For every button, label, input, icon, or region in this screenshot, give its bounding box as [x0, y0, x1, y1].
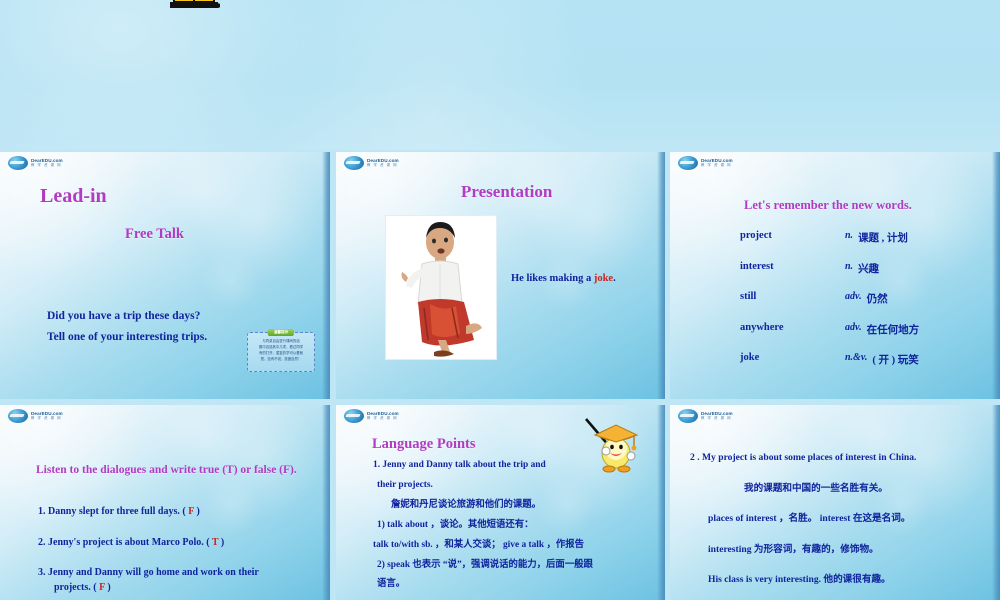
interest-note-line: 我的课题和中国的一些名胜有关。: [684, 484, 994, 494]
tip-box-line-3: 有的打开，重复的学可以看就: [252, 351, 310, 357]
logo-tagline-text: 教 学 资 源 网: [31, 164, 63, 167]
question-line-1: Did you have a trip these days?: [47, 310, 200, 322]
brand-logo: DearEDU.com 教 学 资 源 网: [8, 156, 63, 170]
word-english: anywhere: [740, 322, 845, 337]
dancing-child-photo-icon: [386, 216, 496, 359]
language-point-line: 语言。: [345, 580, 635, 589]
language-points-body: 1. Jenny and Danny talk about the trip a…: [345, 461, 635, 600]
word-meaning: 在任何地方: [867, 322, 920, 337]
word-english: still: [740, 291, 845, 306]
word-meaning: 仍然: [867, 291, 888, 306]
logo-tagline-text: 教 学 资 源 网: [701, 164, 733, 167]
interest-note-line: interesting 为形容词，有趣的，修饰物。: [684, 545, 994, 555]
item-tail: ): [221, 537, 224, 548]
brand-logo: DearEDU.com 教 学 资 源 网: [678, 156, 733, 170]
language-point-line: 2) speak 也表示 “说”，强调说话的能力，后面一般跟: [345, 561, 635, 570]
word-english: project: [740, 230, 845, 245]
item-number: 1.: [38, 506, 46, 517]
word-meaning: 兴趣: [858, 261, 879, 276]
item-tail: ): [196, 506, 199, 517]
slide-title-lead-in: Lead-in: [40, 185, 107, 208]
language-point-line: 1. Jenny and Danny talk about the trip a…: [345, 461, 635, 470]
item-text-cont: projects. (: [54, 582, 97, 593]
language-point-line: their projects.: [345, 481, 635, 490]
tip-box-caption: 温馨提示: [268, 329, 294, 336]
slide-title-language-points: Language Points: [372, 436, 476, 453]
globe-logo-icon: [8, 409, 28, 423]
item-answer: F: [99, 582, 105, 593]
interest-notes-body: 2 . My project is about some places of i…: [684, 453, 994, 600]
logo-tagline-text: 教 学 资 源 网: [367, 164, 399, 167]
language-point-line: talk to/with sb. ，和某人交谈； give a talk ，作报…: [345, 541, 635, 550]
interest-note-line: places of interest ，名胜。 interest 在这是名词。: [684, 514, 994, 524]
item-number: 3.: [38, 567, 46, 578]
slide-title-new-words: Let's remember the new words.: [744, 198, 912, 213]
slide-true-false[interactable]: DearEDU.com 教 学 资 源 网 Listen to the dial…: [0, 405, 330, 600]
caption-prefix: He likes making a: [511, 273, 594, 284]
logo-tagline-text: 教 学 资 源 网: [367, 417, 399, 420]
language-point-line: 1) talk about ，谈论。其他短语还有：: [345, 521, 635, 530]
slide-interest-notes[interactable]: DearEDU.com 教 学 资 源 网 2 . My project is …: [670, 405, 1000, 600]
tip-box: 温馨提示 与同桌自由进行课间的话 题中自选其中几项，看过同学 有的打开，重复的学…: [247, 332, 315, 372]
word-meaning: 课题 , 计划: [858, 230, 908, 245]
true-false-list: 1. Danny slept for three full days. ( F …: [38, 505, 320, 600]
caption-keyword: joke: [594, 273, 613, 284]
vocabulary-list: project n. 课题 , 计划 interest n. 兴趣 still …: [740, 230, 990, 383]
caption-suffix: .: [613, 273, 616, 284]
slide-subtitle-free-talk: Free Talk: [125, 226, 184, 243]
vocabulary-row: still adv. 仍然: [740, 291, 990, 306]
globe-logo-icon: [678, 409, 698, 423]
brand-logo: DearEDU.com 教 学 资 源 网: [678, 409, 733, 423]
question-line-2: Tell one of your interesting trips.: [47, 331, 207, 343]
globe-logo-icon: [678, 156, 698, 170]
slide-title-presentation: Presentation: [461, 182, 552, 202]
slide-grid: DearEDU.com 教 学 资 源 网 Lead-in Free Talk …: [0, 152, 1000, 600]
brand-logo: DearEDU.com 教 学 资 源 网: [344, 409, 399, 423]
slide-new-words[interactable]: DearEDU.com 教 学 资 源 网 Let's remember the…: [670, 152, 1000, 399]
slide-language-points[interactable]: DearEDU.com 教 学 资 源 网 Language Points: [336, 405, 665, 600]
globe-logo-icon: [8, 156, 28, 170]
vocabulary-row: project n. 课题 , 计划: [740, 230, 990, 245]
word-english: interest: [740, 261, 845, 276]
vocabulary-row: anywhere adv. 在任何地方: [740, 322, 990, 337]
language-point-line: 詹妮和丹尼谈论旅游和他们的课题。: [345, 501, 635, 510]
slide-title-true-false: Listen to the dialogues and write true (…: [36, 462, 312, 479]
logo-tagline-text: 教 学 资 源 网: [701, 417, 733, 420]
item-answer: T: [212, 537, 219, 548]
presentation-caption: He likes making a joke.: [511, 273, 616, 284]
item-text: Jenny and Danny will go home and work on…: [48, 567, 259, 578]
interest-note-line: His class is very interesting. 他的课很有趣。: [684, 575, 994, 585]
item-number: 2.: [38, 537, 46, 548]
word-part-of-speech: n.&v.: [845, 352, 867, 367]
brand-logo: DearEDU.com 教 学 资 源 网: [8, 409, 63, 423]
presentation-photo-frame: [385, 215, 497, 360]
word-part-of-speech: n.: [845, 261, 853, 276]
true-false-item: 3. Jenny and Danny will go home and work…: [38, 566, 320, 595]
word-part-of-speech: adv.: [845, 291, 862, 306]
tip-box-line-4: 是，没有不说，放度自然！: [252, 357, 310, 363]
true-false-item: 2. Jenny's project is about Marco Polo. …: [38, 536, 320, 551]
true-false-item: 1. Danny slept for three full days. ( F …: [38, 505, 320, 520]
item-answer: F: [188, 506, 194, 517]
word-english: joke: [740, 352, 845, 367]
slide-lead-in[interactable]: DearEDU.com 教 学 资 源 网 Lead-in Free Talk …: [0, 152, 330, 399]
vocabulary-row: joke n.&v. ( 开 ) 玩笑: [740, 352, 990, 367]
word-part-of-speech: n.: [845, 230, 853, 245]
interest-note-line: 2 . My project is about some places of i…: [684, 453, 994, 463]
globe-logo-icon: [344, 409, 364, 423]
globe-logo-icon: [344, 156, 364, 170]
logo-tagline-text: 教 学 资 源 网: [31, 417, 63, 420]
slide-presentation[interactable]: DearEDU.com 教 学 资 源 网 Presentation: [336, 152, 665, 399]
item-tail: ): [107, 582, 110, 593]
item-text: Danny slept for three full days. (: [48, 506, 186, 517]
top-partial-slide-banner: [0, 0, 1000, 150]
word-meaning: ( 开 ) 玩笑: [872, 352, 918, 367]
brand-logo: DearEDU.com 教 学 资 源 网: [344, 156, 399, 170]
word-part-of-speech: adv.: [845, 322, 862, 337]
item-text: Jenny's project is about Marco Polo. (: [48, 537, 210, 548]
vocabulary-row: interest n. 兴趣: [740, 261, 990, 276]
yellow-cartoon-figure-legs-icon: [168, 0, 220, 36]
